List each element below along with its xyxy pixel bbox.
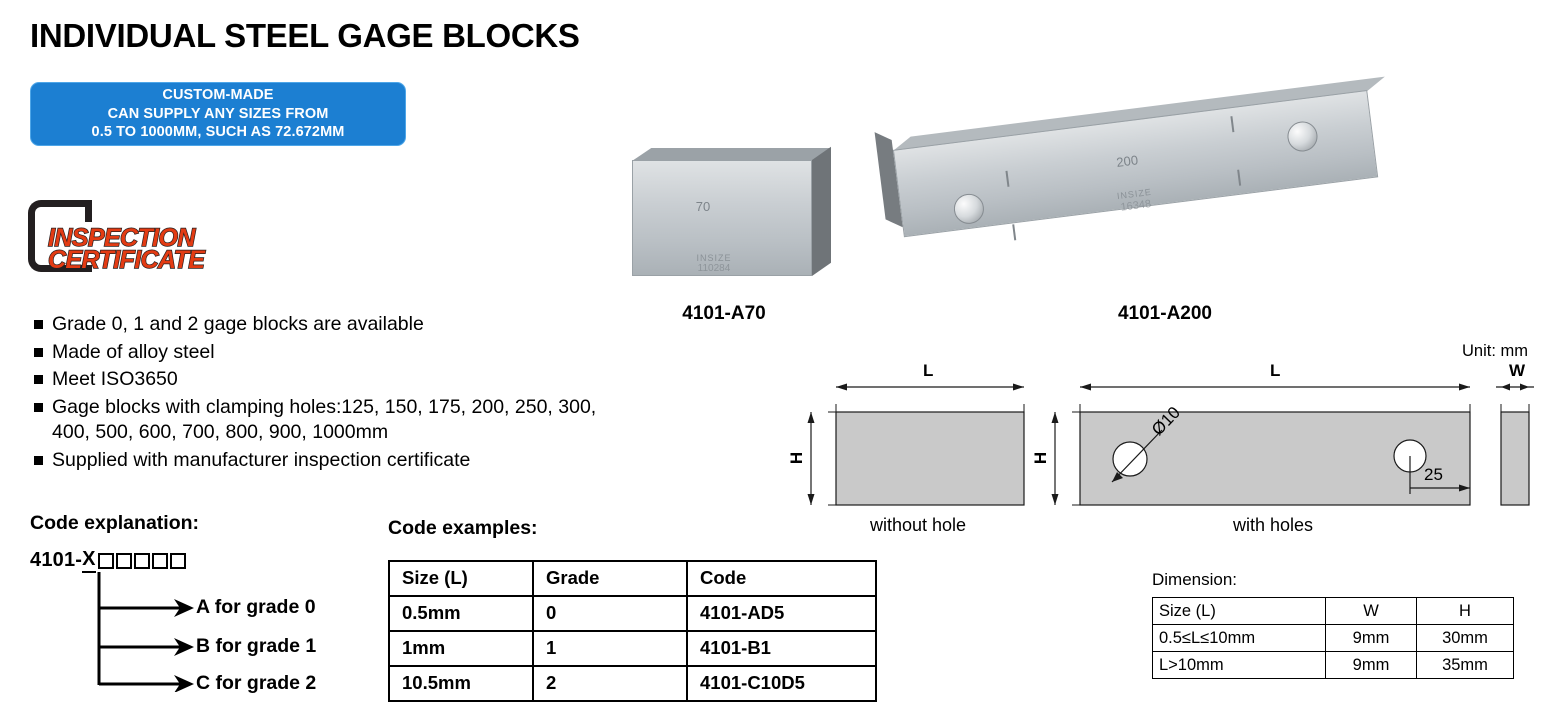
cell-size: 0.5≤L≤10mm [1153, 625, 1326, 652]
cell-grade: 1 [533, 631, 687, 666]
product-caption-large: 4101-A200 [1030, 303, 1300, 325]
badge-line-2: CAN SUPPLY ANY SIZES FROM [108, 105, 329, 124]
bullet-square-icon [34, 348, 43, 357]
column-header-grade: Grade [533, 561, 687, 596]
badge-line-3: 0.5 TO 1000MM, SUCH AS 72.672MM [92, 123, 345, 142]
list-item: Meet ISO3650 [30, 367, 630, 393]
column-header-w: W [1326, 598, 1417, 625]
drawing-hole-left [1113, 442, 1147, 476]
bullet-square-icon [34, 375, 43, 384]
bullet-square-icon [34, 456, 43, 465]
cell-h: 35mm [1417, 652, 1514, 679]
tick-mark [1005, 171, 1009, 187]
block-rotated-group: 200 INSIZE 16348 [889, 59, 1410, 320]
label-length-without-hole: L [923, 361, 933, 381]
block-front-face: 70 INSIZE 110284 [632, 160, 812, 276]
cell-size: 1mm [389, 631, 533, 666]
cell-size: L>10mm [1153, 652, 1326, 679]
engraved-size: 70 [673, 199, 733, 214]
cell-w: 9mm [1326, 625, 1417, 652]
code-prefix: 4101- [30, 549, 82, 572]
list-item: Supplied with manufacturer inspection ce… [30, 448, 630, 474]
page-title: INDIVIDUAL STEEL GAGE BLOCKS [30, 17, 580, 55]
tick-mark [1230, 116, 1234, 132]
cell-w: 9mm [1326, 652, 1417, 679]
block-side-edge [812, 147, 831, 276]
cell-grade: 2 [533, 666, 687, 701]
label-height-with-holes: H [1031, 452, 1051, 464]
table-row: 1mm 1 4101-B1 [389, 631, 876, 666]
block-side-view-shape [1501, 412, 1529, 505]
list-item: Grade 0, 1 and 2 gage blocks are availab… [30, 312, 630, 338]
code-placeholder-box [98, 553, 114, 569]
code-pattern: 4101- X [30, 548, 186, 573]
code-examples-title: Code examples: [388, 517, 538, 540]
feature-list: Grade 0, 1 and 2 gage blocks are availab… [30, 312, 630, 475]
technical-drawings: L H without hole L H Ø10 25 with holes W [790, 360, 1550, 550]
clamping-hole-right [1286, 120, 1320, 154]
column-header-size: Size (L) [1153, 598, 1326, 625]
feature-text: Gage blocks with clamping holes:125, 150… [52, 395, 630, 446]
caption-with-holes: with holes [1233, 515, 1313, 536]
cell-code: 4101-C10D5 [687, 666, 876, 701]
product-photo-4101-a70: 70 INSIZE 110284 [632, 148, 832, 276]
clamping-hole-left [952, 192, 986, 226]
tick-mark [1237, 170, 1241, 186]
feature-text: Grade 0, 1 and 2 gage blocks are availab… [52, 312, 424, 338]
block-without-hole-shape [836, 412, 1024, 505]
label-width-side-view: W [1509, 361, 1525, 381]
product-photo-4101-a200: 200 INSIZE 16348 [900, 90, 1400, 290]
table-header-row: Size (L) W H [1153, 598, 1514, 625]
dimension-table: Size (L) W H 0.5≤L≤10mm 9mm 30mm L>10mm … [1152, 597, 1514, 679]
list-item: Made of alloy steel [30, 340, 630, 366]
column-header-code: Code [687, 561, 876, 596]
dimension-title: Dimension: [1152, 570, 1237, 590]
label-height-without-hole: H [787, 452, 807, 464]
custom-made-badge: CUSTOM-MADE CAN SUPPLY ANY SIZES FROM 0.… [30, 82, 406, 146]
unit-label: Unit: mm [1462, 342, 1528, 361]
bullet-square-icon [34, 320, 43, 329]
engraved-size: 200 [1096, 150, 1157, 172]
engraved-brand: INSIZE [679, 253, 749, 263]
engraved-serial: 110284 [679, 263, 749, 274]
code-examples-table: Size (L) Grade Code 0.5mm 0 4101-AD5 1mm… [388, 560, 877, 702]
code-placeholder-box [170, 553, 186, 569]
table-row: L>10mm 9mm 35mm [1153, 652, 1514, 679]
tick-mark [1012, 224, 1016, 240]
cell-size: 0.5mm [389, 596, 533, 631]
cell-size: 10.5mm [389, 666, 533, 701]
code-branch-diagram: A for grade 0 B for grade 1 C for grade … [96, 572, 366, 692]
table-header-row: Size (L) Grade Code [389, 561, 876, 596]
label-length-with-holes: L [1270, 361, 1280, 381]
table-row: 10.5mm 2 4101-C10D5 [389, 666, 876, 701]
caption-without-hole: without hole [870, 515, 966, 536]
column-header-size: Size (L) [389, 561, 533, 596]
bullet-square-icon [34, 403, 43, 412]
feature-text: Meet ISO3650 [52, 367, 178, 393]
cell-code: 4101-B1 [687, 631, 876, 666]
bracket-cap-icon [85, 200, 92, 222]
code-placeholder-box [152, 553, 168, 569]
cell-grade: 0 [533, 596, 687, 631]
code-placeholder-box [116, 553, 132, 569]
table-row: 0.5≤L≤10mm 9mm 30mm [1153, 625, 1514, 652]
list-item: Gage blocks with clamping holes:125, 150… [30, 395, 630, 446]
feature-text: Made of alloy steel [52, 340, 215, 366]
column-header-h: H [1417, 598, 1514, 625]
code-placeholder-box [134, 553, 150, 569]
branch-label-b: B for grade 1 [196, 635, 316, 658]
cell-code: 4101-AD5 [687, 596, 876, 631]
code-variable-x: X [82, 548, 95, 573]
table-row: 0.5mm 0 4101-AD5 [389, 596, 876, 631]
label-edge-distance: 25 [1424, 465, 1443, 485]
inspection-logo-line-2: CERTIFICATE [48, 246, 204, 275]
feature-text: Supplied with manufacturer inspection ce… [52, 448, 470, 474]
branch-label-a: A for grade 0 [196, 596, 316, 619]
badge-line-1: CUSTOM-MADE [162, 86, 273, 105]
inspection-certificate-logo: INSPECTION CERTIFICATE [28, 200, 248, 278]
code-explanation-title: Code explanation: [30, 512, 199, 535]
branch-label-c: C for grade 2 [196, 672, 316, 695]
cell-h: 30mm [1417, 625, 1514, 652]
product-caption-small: 4101-A70 [614, 303, 834, 325]
